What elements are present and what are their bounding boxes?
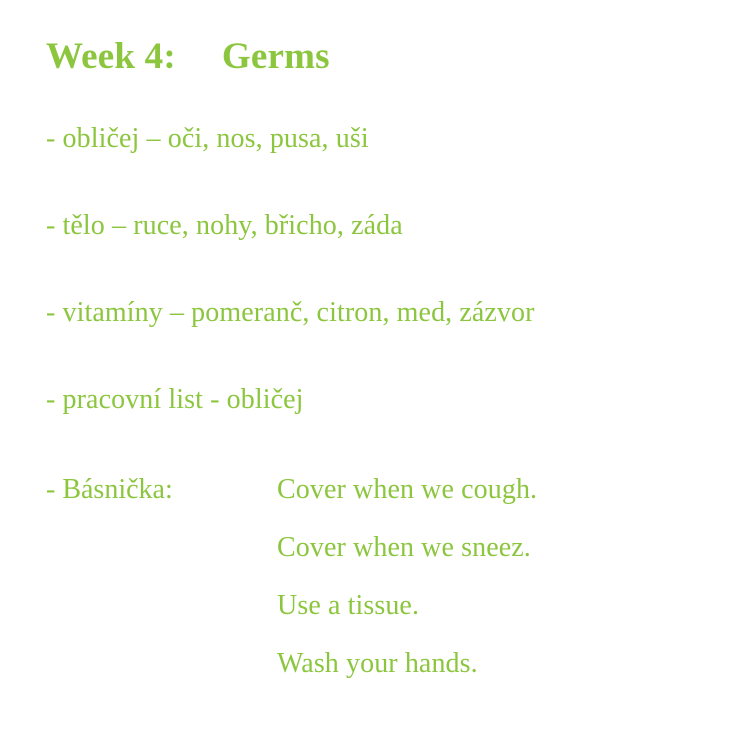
slide-canvas: Week 4: Germs - obličej – oči, nos, pusa…	[0, 0, 747, 731]
page-title: Week 4: Germs	[46, 34, 330, 80]
poem-line: Use a tissue.	[277, 588, 736, 624]
bullet-list: - obličej – oči, nos, pusa, uši - tělo –…	[46, 121, 736, 469]
poem-label: - Básnička:	[46, 472, 277, 508]
poem-line: Wash your hands.	[277, 646, 736, 682]
list-item: - pracovní list - obličej	[46, 382, 736, 418]
list-item: - vitamíny – pomeranč, citron, med, zázv…	[46, 295, 736, 331]
poem-section: - Básnička: Cover when we cough. Cover w…	[46, 472, 736, 682]
poem-line-list: Cover when we cough. Cover when we sneez…	[277, 472, 736, 682]
page-title-topic: Germs	[222, 34, 330, 80]
page-title-week: Week 4:	[46, 34, 176, 80]
poem-line: Cover when we sneez.	[277, 530, 736, 566]
poem-line: Cover when we cough.	[277, 472, 736, 508]
list-item: - obličej – oči, nos, pusa, uši	[46, 121, 736, 157]
list-item: - tělo – ruce, nohy, břicho, záda	[46, 208, 736, 244]
